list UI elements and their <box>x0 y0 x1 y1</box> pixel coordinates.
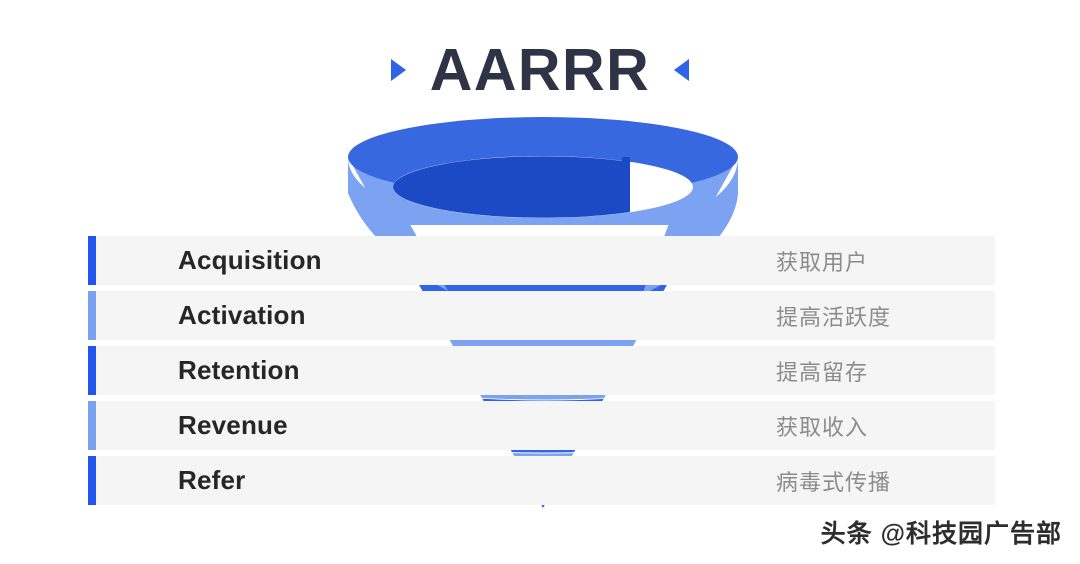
table-row[interactable]: Acquisition 获取用户 <box>88 236 995 285</box>
stage-label: Revenue <box>178 410 288 441</box>
stage-label: Refer <box>178 465 245 496</box>
title-text: AARRR <box>430 41 651 100</box>
stage-description: 获取用户 <box>776 245 868 277</box>
row-accent-bar <box>88 236 96 285</box>
funnel-inner-shadow <box>393 156 630 217</box>
play-triangle-right-icon <box>391 59 406 81</box>
slide-canvas: AARRR <box>0 0 1080 564</box>
stage-description: 病毒式传播 <box>776 465 891 497</box>
stage-description: 提高活跃度 <box>776 300 891 332</box>
table-row[interactable]: Retention 提高留存 <box>88 346 995 395</box>
stage-label: Acquisition <box>178 245 322 276</box>
page-title: AARRR <box>0 32 1080 108</box>
stage-description: 获取收入 <box>776 410 868 442</box>
row-accent-bar <box>88 346 96 395</box>
play-triangle-left-icon <box>674 59 689 81</box>
watermark: 头条 @科技园广告部 <box>821 514 1062 550</box>
table-row[interactable]: Refer 病毒式传播 <box>88 456 995 505</box>
funnel-band-light-1 <box>330 145 760 225</box>
funnel-rim-top <box>348 117 738 197</box>
stage-description: 提高留存 <box>776 355 868 387</box>
row-accent-bar <box>88 456 96 505</box>
table-row[interactable]: Revenue 获取收入 <box>88 401 995 450</box>
stage-label: Retention <box>178 355 300 386</box>
row-accent-bar <box>88 291 96 340</box>
table-row[interactable]: Activation 提高活跃度 <box>88 291 995 340</box>
funnel-spiral-start <box>616 157 630 212</box>
funnel-rim-outline <box>348 117 738 197</box>
funnel-rim-back <box>348 117 738 157</box>
stage-label: Activation <box>178 300 306 331</box>
funnel-rim-opening <box>393 156 693 218</box>
row-accent-bar <box>88 401 96 450</box>
stage-list: Acquisition 获取用户 Activation 提高活跃度 Retent… <box>88 236 995 505</box>
